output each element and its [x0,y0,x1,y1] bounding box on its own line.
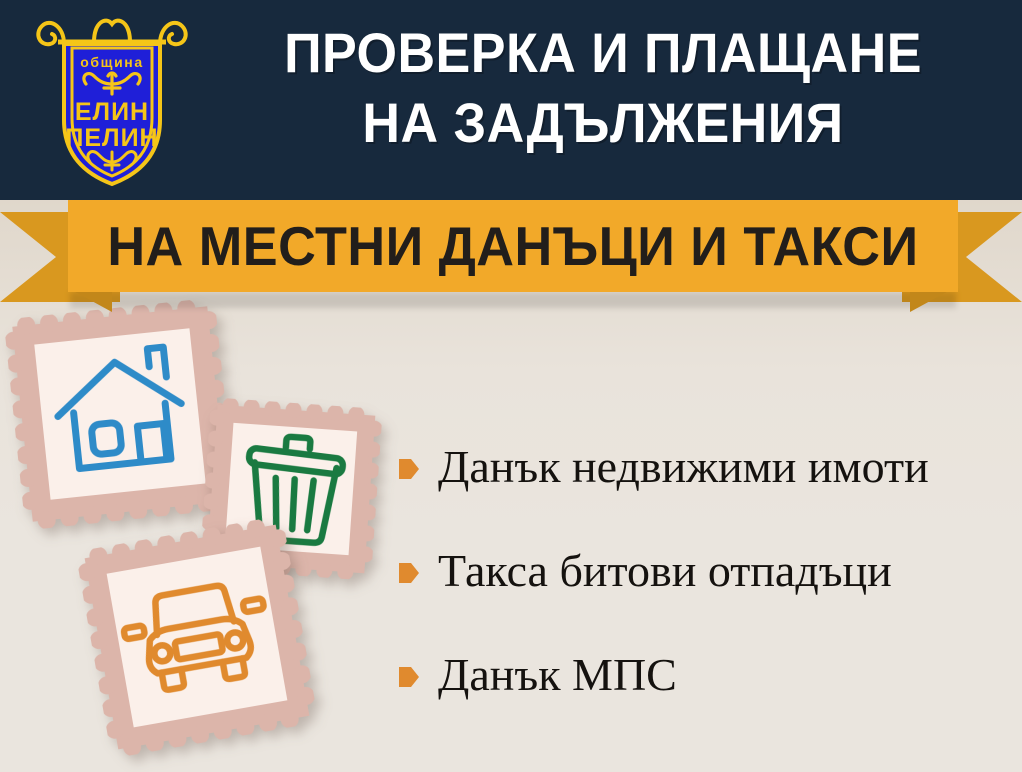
stamp-card-group [0,300,420,772]
municipality-crest-logo: община ЕЛИН ПЕЛИН [24,8,200,190]
list-item[interactable]: Данък МПС [398,623,1018,727]
stamp-card-vehicle-tax [75,515,318,758]
list-item[interactable]: Такса битови отпадъци [398,519,1018,623]
subtitle-ribbon: НА МЕСТНИ ДАНЪЦИ И ТАКСИ [0,198,1022,308]
poster-title-line-1: ПРОВЕРКА И ПЛАЩАНЕ [228,18,978,88]
stamp-card-property-tax [4,298,237,531]
arrow-bullet-icon [398,560,420,586]
crest-name-line1: ЕЛИН [75,98,149,126]
list-item[interactable]: Данък недвижими имоти [398,415,1018,519]
services-list: Данък недвижими имоти Такса битови отпад… [398,415,1018,727]
crest-name-line2: ПЕЛИН [65,124,158,152]
list-item-label: Данък недвижими имоти [438,441,929,493]
poster-canvas: община ЕЛИН ПЕЛИН [0,0,1022,772]
header-banner: община ЕЛИН ПЕЛИН [0,0,1022,200]
ribbon-drop-shadow [70,292,956,308]
ribbon-label: НА МЕСТНИ ДАНЪЦИ И ТАКСИ [107,216,918,276]
list-item-label: Данък МПС [438,649,677,701]
list-item-label: Такса битови отпадъци [438,545,892,597]
arrow-bullet-icon [398,664,420,690]
ribbon-panel: НА МЕСТНИ ДАНЪЦИ И ТАКСИ [68,200,958,292]
arrow-bullet-icon [398,456,420,482]
poster-title-line-2: НА ЗАДЪЛЖЕНИЯ [228,88,978,158]
crest-municipality-label: община [80,54,143,70]
poster-title: ПРОВЕРКА И ПЛАЩАНЕ НА ЗАДЪЛЖЕНИЯ [200,18,1006,158]
